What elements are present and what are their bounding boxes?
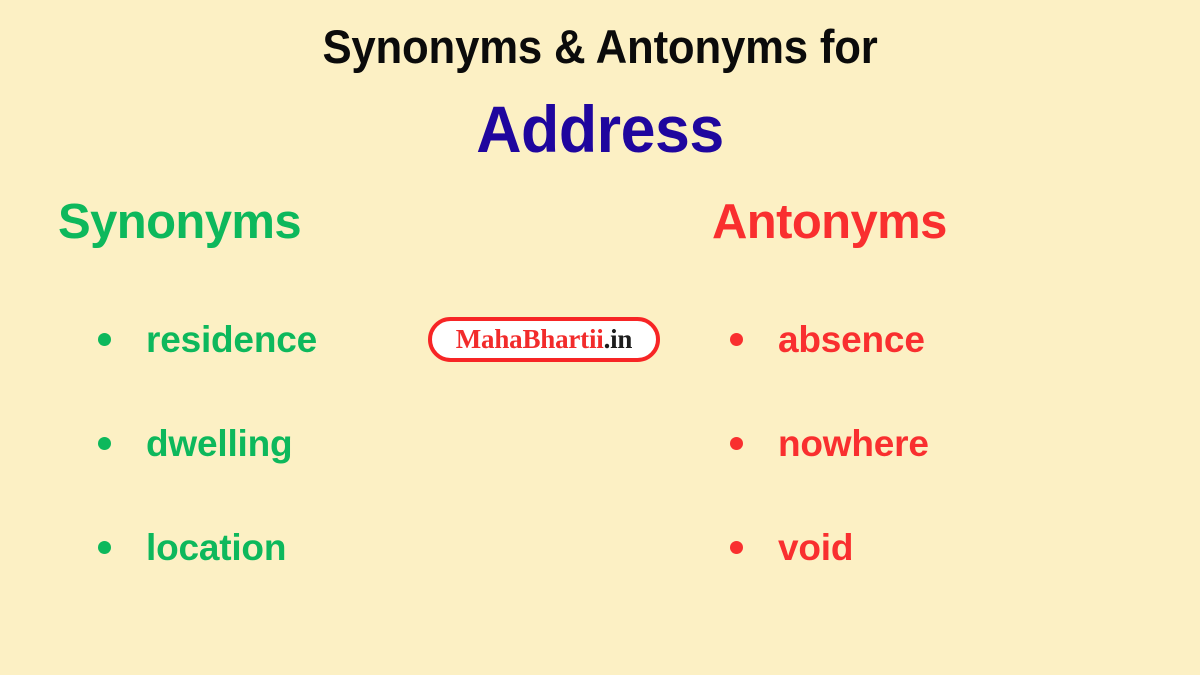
bullet-icon	[98, 333, 111, 346]
word-columns: Synonyms residence dwelling location Ant…	[0, 198, 1200, 668]
bullet-icon	[98, 541, 111, 554]
watermark-brand: MahaBhartii	[456, 324, 604, 354]
antonyms-list: absence nowhere void	[690, 287, 1200, 599]
list-item-label: residence	[146, 321, 317, 358]
antonyms-column: Antonyms absence nowhere void	[640, 198, 1200, 668]
watermark-badge: MahaBhartii.in	[428, 317, 660, 362]
page-title: Synonyms & Antonyms for	[42, 22, 1158, 73]
list-item-label: dwelling	[146, 425, 292, 462]
watermark-tld: .in	[604, 324, 633, 354]
list-item: void	[690, 495, 1200, 599]
header: Synonyms & Antonyms for Address	[0, 22, 1200, 165]
synonyms-column: Synonyms residence dwelling location	[0, 198, 640, 668]
infographic-card: Synonyms & Antonyms for Address Synonyms…	[0, 0, 1200, 675]
list-item-label: absence	[778, 321, 925, 358]
list-item: location	[58, 495, 640, 599]
bullet-icon	[730, 541, 743, 554]
list-item: absence	[690, 287, 1200, 391]
list-item-label: location	[146, 529, 286, 566]
synonyms-heading: Synonyms	[58, 198, 640, 247]
bullet-icon	[730, 333, 743, 346]
list-item-label: void	[778, 529, 853, 566]
antonyms-heading: Antonyms	[690, 198, 1200, 247]
watermark-text: MahaBhartii.in	[456, 326, 632, 353]
headword: Address	[30, 95, 1170, 165]
list-item: nowhere	[690, 391, 1200, 495]
list-item: dwelling	[58, 391, 640, 495]
bullet-icon	[98, 437, 111, 450]
bullet-icon	[730, 437, 743, 450]
list-item-label: nowhere	[778, 425, 929, 462]
